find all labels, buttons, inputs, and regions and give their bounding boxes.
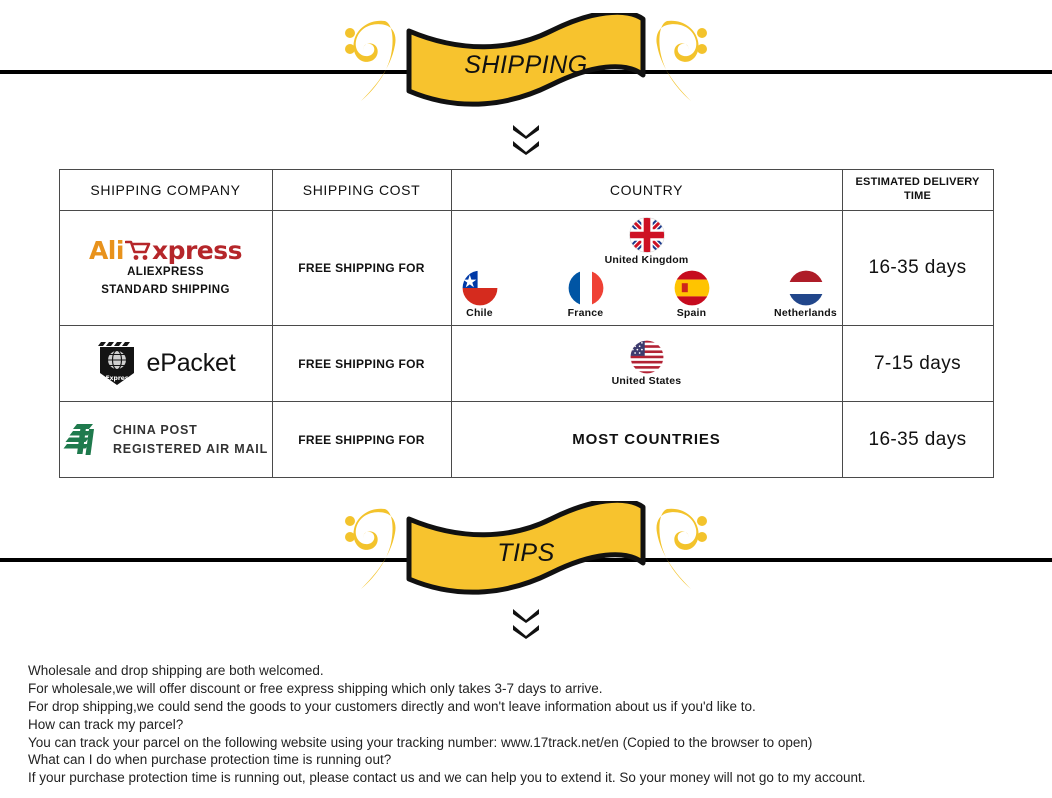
flag-caption-netherlands: Netherlands: [774, 307, 837, 319]
flag-caption-uk: United Kingdom: [605, 254, 689, 266]
flag-usa-icon: [630, 340, 664, 374]
clef-swirl-right-icon: [651, 503, 711, 599]
table-row: Ali xpress ALIEXPRESS STANDARD SHIPPING: [59, 211, 993, 326]
table-row: Expres ePacket FREE SHIPPING FOR: [59, 326, 993, 402]
flag-netherlands-icon: [788, 270, 824, 306]
flag-caption-spain: Spain: [677, 307, 707, 319]
note-line: For wholesale,we will offer discount or …: [28, 681, 1043, 698]
aliexpress-logo-ali: Ali: [89, 238, 124, 263]
flag-caption-united-states: United States: [612, 375, 682, 387]
flag-france-icon: [568, 270, 604, 306]
note-line: Wholesale and drop shipping are both wel…: [28, 663, 1043, 680]
shipping-table: SHIPPING COMPANY SHIPPING COST COUNTRY E…: [59, 169, 994, 478]
note-line: You can track your parcel on the followi…: [28, 735, 1043, 752]
chevron-down-icon: [512, 124, 540, 139]
flag-item-france: France: [546, 270, 626, 319]
shipping-info-page: SHIPPING SHIPPING COMPANY: [0, 8, 1052, 798]
chevron-down-group-shipping: [0, 124, 1052, 155]
cell-delivery-aliexpress: 16-35 days: [842, 211, 993, 326]
shipping-table-zone: SHIPPING COMPANY SHIPPING COST COUNTRY E…: [0, 169, 1052, 478]
table-header-row: SHIPPING COMPANY SHIPPING COST COUNTRY E…: [59, 170, 993, 211]
chevron-down-icon: [512, 140, 540, 155]
epacket-badge-icon: Expres: [96, 341, 138, 387]
aliexpress-logo: Ali xpress: [89, 238, 242, 263]
cell-carrier-china-post: CHINA POST REGISTERED AIR MAIL: [59, 402, 272, 478]
flag-spain-icon: [674, 270, 710, 306]
shipping-banner: SHIPPING: [0, 8, 1052, 118]
clef-swirl-left-icon: [341, 503, 401, 599]
note-line: For drop shipping,we could send the good…: [28, 699, 1043, 716]
chevron-down-icon: [512, 608, 540, 623]
chevron-down-group-tips: [0, 608, 1052, 639]
flag-chile-icon: [462, 270, 498, 306]
cell-cost-aliexpress: FREE SHIPPING FOR: [272, 211, 451, 326]
flag-item-spain: Spain: [652, 270, 732, 319]
clef-swirl-left-icon: [341, 15, 401, 111]
china-post-logo-icon: [63, 420, 103, 460]
header-shipping-cost: SHIPPING COST: [272, 170, 451, 211]
cell-delivery-epacket: 7-15 days: [842, 326, 993, 402]
china-post-line2: REGISTERED AIR MAIL: [113, 440, 268, 459]
cell-country-epacket: United States: [451, 326, 842, 402]
flag-caption-chile: Chile: [466, 307, 493, 319]
flag-item-netherlands: Netherlands: [758, 270, 854, 319]
aliexpress-sub-line1: ALIEXPRESS: [127, 265, 204, 281]
notes-block: Wholesale and drop shipping are both wel…: [28, 663, 1043, 788]
header-estimated-delivery-time: ESTIMATED DELIVERY TIME: [842, 170, 993, 211]
ribbon-tips: TIPS: [401, 501, 651, 601]
cell-carrier-aliexpress: Ali xpress ALIEXPRESS STANDARD SHIPPING: [59, 211, 272, 326]
note-line: What can I do when purchase protection t…: [28, 752, 1043, 769]
flag-item-chile: Chile: [440, 270, 520, 319]
note-line: How can track my parcel?: [28, 717, 1043, 734]
ribbon-shipping: SHIPPING: [401, 13, 651, 113]
header-shipping-company: SHIPPING COMPANY: [59, 170, 272, 211]
flag-item-united-states: United States: [599, 340, 695, 387]
aliexpress-sub-line2: STANDARD SHIPPING: [101, 283, 230, 299]
table-row: CHINA POST REGISTERED AIR MAIL FREE SHIP…: [59, 402, 993, 478]
flag-item-uk: United Kingdom: [599, 217, 695, 266]
epacket-name: ePacket: [147, 349, 236, 378]
flag-row-bottom: Chile: [440, 270, 854, 319]
aliexpress-logo-xpress: xpress: [152, 238, 242, 263]
cell-cost-epacket: FREE SHIPPING FOR: [272, 326, 451, 402]
flag-caption-france: France: [568, 307, 604, 319]
tips-banner: TIPS: [0, 496, 1052, 606]
chevron-down-icon: [512, 624, 540, 639]
svg-text:Expres: Expres: [105, 375, 128, 382]
header-country: COUNTRY: [451, 170, 842, 211]
flag-row-top: United Kingdom: [599, 217, 695, 266]
cell-delivery-china-post: 16-35 days: [842, 402, 993, 478]
cell-country-aliexpress: United Kingdom: [451, 211, 842, 326]
clef-swirl-right-icon: [651, 15, 711, 111]
cell-cost-china-post: FREE SHIPPING FOR: [272, 402, 451, 478]
shopping-cart-icon: [125, 239, 151, 261]
flag-uk-icon: [629, 217, 665, 253]
cell-carrier-epacket: Expres ePacket: [59, 326, 272, 402]
cell-country-china-post: MOST COUNTRIES: [451, 402, 842, 478]
china-post-line1: CHINA POST: [113, 421, 268, 440]
note-line: If your purchase protection time is runn…: [28, 770, 1043, 787]
